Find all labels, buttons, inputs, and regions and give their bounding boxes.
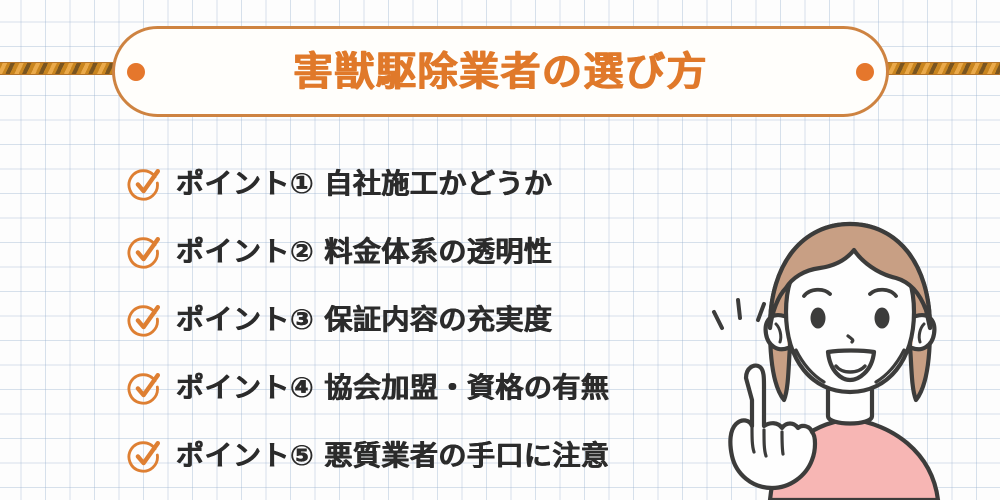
list-item-label: ポイント⑤ 悪質業者の手口に注意 bbox=[176, 442, 609, 470]
circle-check-icon bbox=[126, 369, 164, 407]
circle-check-icon bbox=[126, 301, 164, 339]
list-item: ポイント⑤ 悪質業者の手口に注意 bbox=[126, 422, 726, 490]
pointing-hand bbox=[730, 366, 815, 488]
emphasis-line-3 bbox=[758, 304, 764, 320]
checklist: ポイント① 自社施工かどうか ポイント② 料金体系の透明性 ポイント③ 保証内容… bbox=[126, 150, 726, 490]
list-item-label: ポイント① 自社施工かどうか bbox=[176, 170, 552, 198]
list-item: ポイント④ 協会加盟・資格の有無 bbox=[126, 354, 726, 422]
list-item-label: ポイント④ 協会加盟・資格の有無 bbox=[176, 374, 609, 402]
list-item: ポイント② 料金体系の透明性 bbox=[126, 218, 726, 286]
rope-decoration-left bbox=[0, 62, 122, 75]
list-item-label: ポイント② 料金体系の透明性 bbox=[176, 238, 552, 266]
eye-left bbox=[811, 308, 826, 329]
woman-pointing-up-illustration bbox=[700, 200, 1000, 500]
list-item: ポイント③ 保証内容の充実度 bbox=[126, 286, 726, 354]
circle-check-icon bbox=[126, 437, 164, 475]
rope-decoration-right bbox=[884, 62, 1000, 75]
slide-canvas: 害獣駆除業者の選び方 ポイント① 自社施工かどうか ポイント② 料金体系の透明性… bbox=[0, 0, 1000, 500]
banner-dot-right-icon bbox=[856, 63, 874, 81]
circle-check-icon bbox=[126, 165, 164, 203]
title-banner: 害獣駆除業者の選び方 bbox=[112, 26, 889, 117]
eye-right bbox=[875, 308, 890, 329]
list-item-label: ポイント③ 保証内容の充実度 bbox=[176, 306, 552, 334]
list-item: ポイント① 自社施工かどうか bbox=[126, 150, 726, 218]
emphasis-line-2 bbox=[738, 300, 740, 318]
banner-dot-left-icon bbox=[127, 63, 145, 81]
page-title: 害獣駆除業者の選び方 bbox=[293, 52, 708, 92]
circle-check-icon bbox=[126, 233, 164, 271]
